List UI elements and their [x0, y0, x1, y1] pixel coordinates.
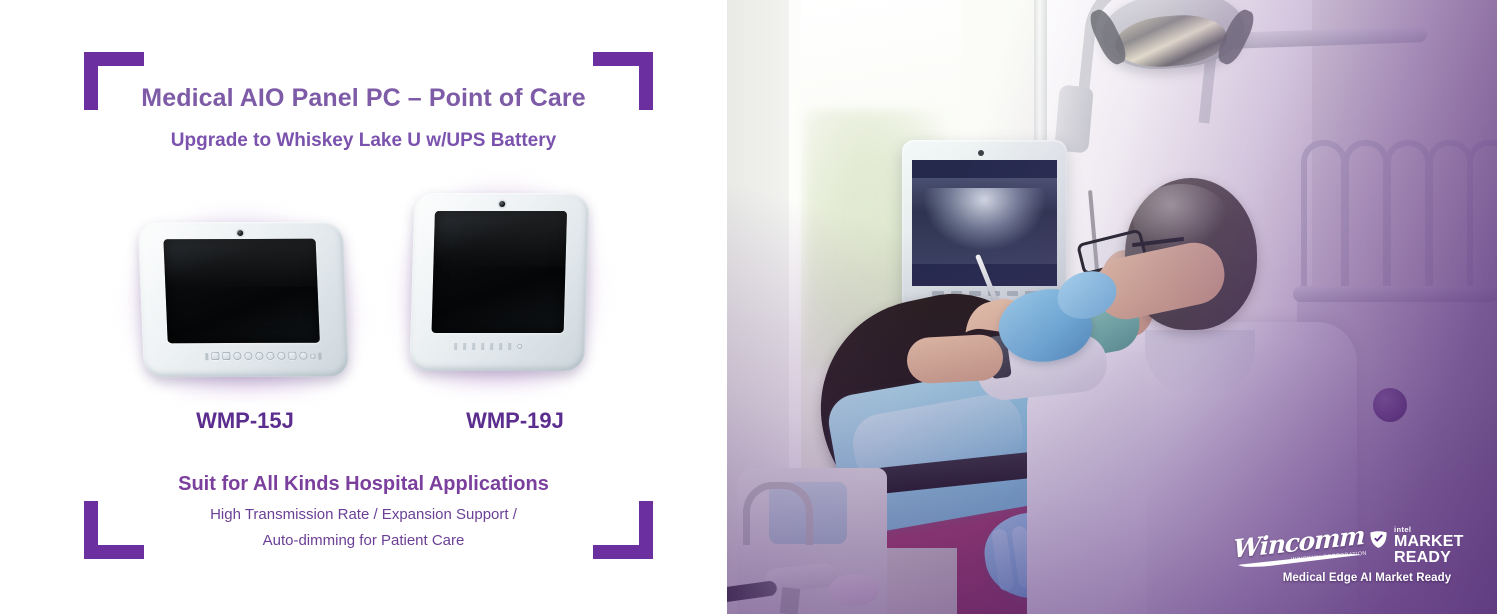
- button-slot: [481, 343, 484, 350]
- product-label-wmp-15j: WMP-15J: [140, 408, 350, 434]
- power-button: [517, 344, 522, 349]
- product-label-row: WMP-15J WMP-19J: [0, 408, 727, 442]
- function-button: [255, 352, 263, 360]
- market-label: MARKET: [1394, 534, 1464, 549]
- button-slot: [499, 343, 502, 350]
- function-button: [211, 352, 219, 360]
- function-button: [266, 352, 274, 360]
- device-button-row: [205, 352, 321, 360]
- power-button: [277, 352, 285, 360]
- intel-checkmark-badge-icon: [1369, 530, 1388, 549]
- button-slot: [472, 343, 475, 350]
- ready-label: READY: [1394, 550, 1451, 565]
- device-button-row: [454, 343, 522, 350]
- function-button: [299, 352, 307, 360]
- button-slot: [318, 352, 321, 359]
- logo-lockup: Wincomm WINCOMM CORPORATION intel MARKET…: [1217, 520, 1487, 598]
- button-slot: [205, 353, 208, 360]
- button-slot: [454, 343, 457, 350]
- wincomm-logo: Wincomm WINCOMM CORPORATION: [1233, 526, 1361, 572]
- dental-clinic-photo: Wincomm WINCOMM CORPORATION intel MARKET…: [727, 0, 1497, 614]
- tagline-line-1: High Transmission Rate / Expansion Suppo…: [0, 506, 727, 523]
- device-screen: [432, 211, 567, 333]
- logo-tagline: Medical Edge AI Market Ready: [1247, 572, 1487, 584]
- button-slot: [508, 343, 511, 350]
- function-button: [222, 352, 230, 360]
- product-image-group: [0, 180, 727, 410]
- function-button: [288, 352, 296, 360]
- button-slot: [490, 343, 493, 350]
- status-led: [310, 353, 315, 358]
- function-button: [244, 352, 252, 360]
- product-label-wmp-19j: WMP-19J: [410, 408, 620, 434]
- left-content-panel: Medical AIO Panel PC – Point of Care Upg…: [0, 0, 727, 614]
- page-subtitle: Upgrade to Whiskey Lake U w/UPS Battery: [0, 130, 727, 152]
- product-image-wmp-19j: [409, 193, 589, 371]
- tagline-line-2: Auto-dimming for Patient Care: [0, 532, 727, 549]
- device-screen: [163, 239, 319, 343]
- product-banner: Medical AIO Panel PC – Point of Care Upg…: [0, 0, 1497, 614]
- page-title: Medical AIO Panel PC – Point of Care: [0, 84, 727, 113]
- intel-market-ready-logo: intel MARKET READY: [1369, 522, 1487, 572]
- webcam-icon: [237, 230, 243, 236]
- button-slot: [463, 343, 466, 350]
- function-button: [233, 352, 241, 360]
- tagline-heading: Suit for All Kinds Hospital Applications: [0, 473, 727, 496]
- product-image-wmp-15j: [138, 222, 350, 378]
